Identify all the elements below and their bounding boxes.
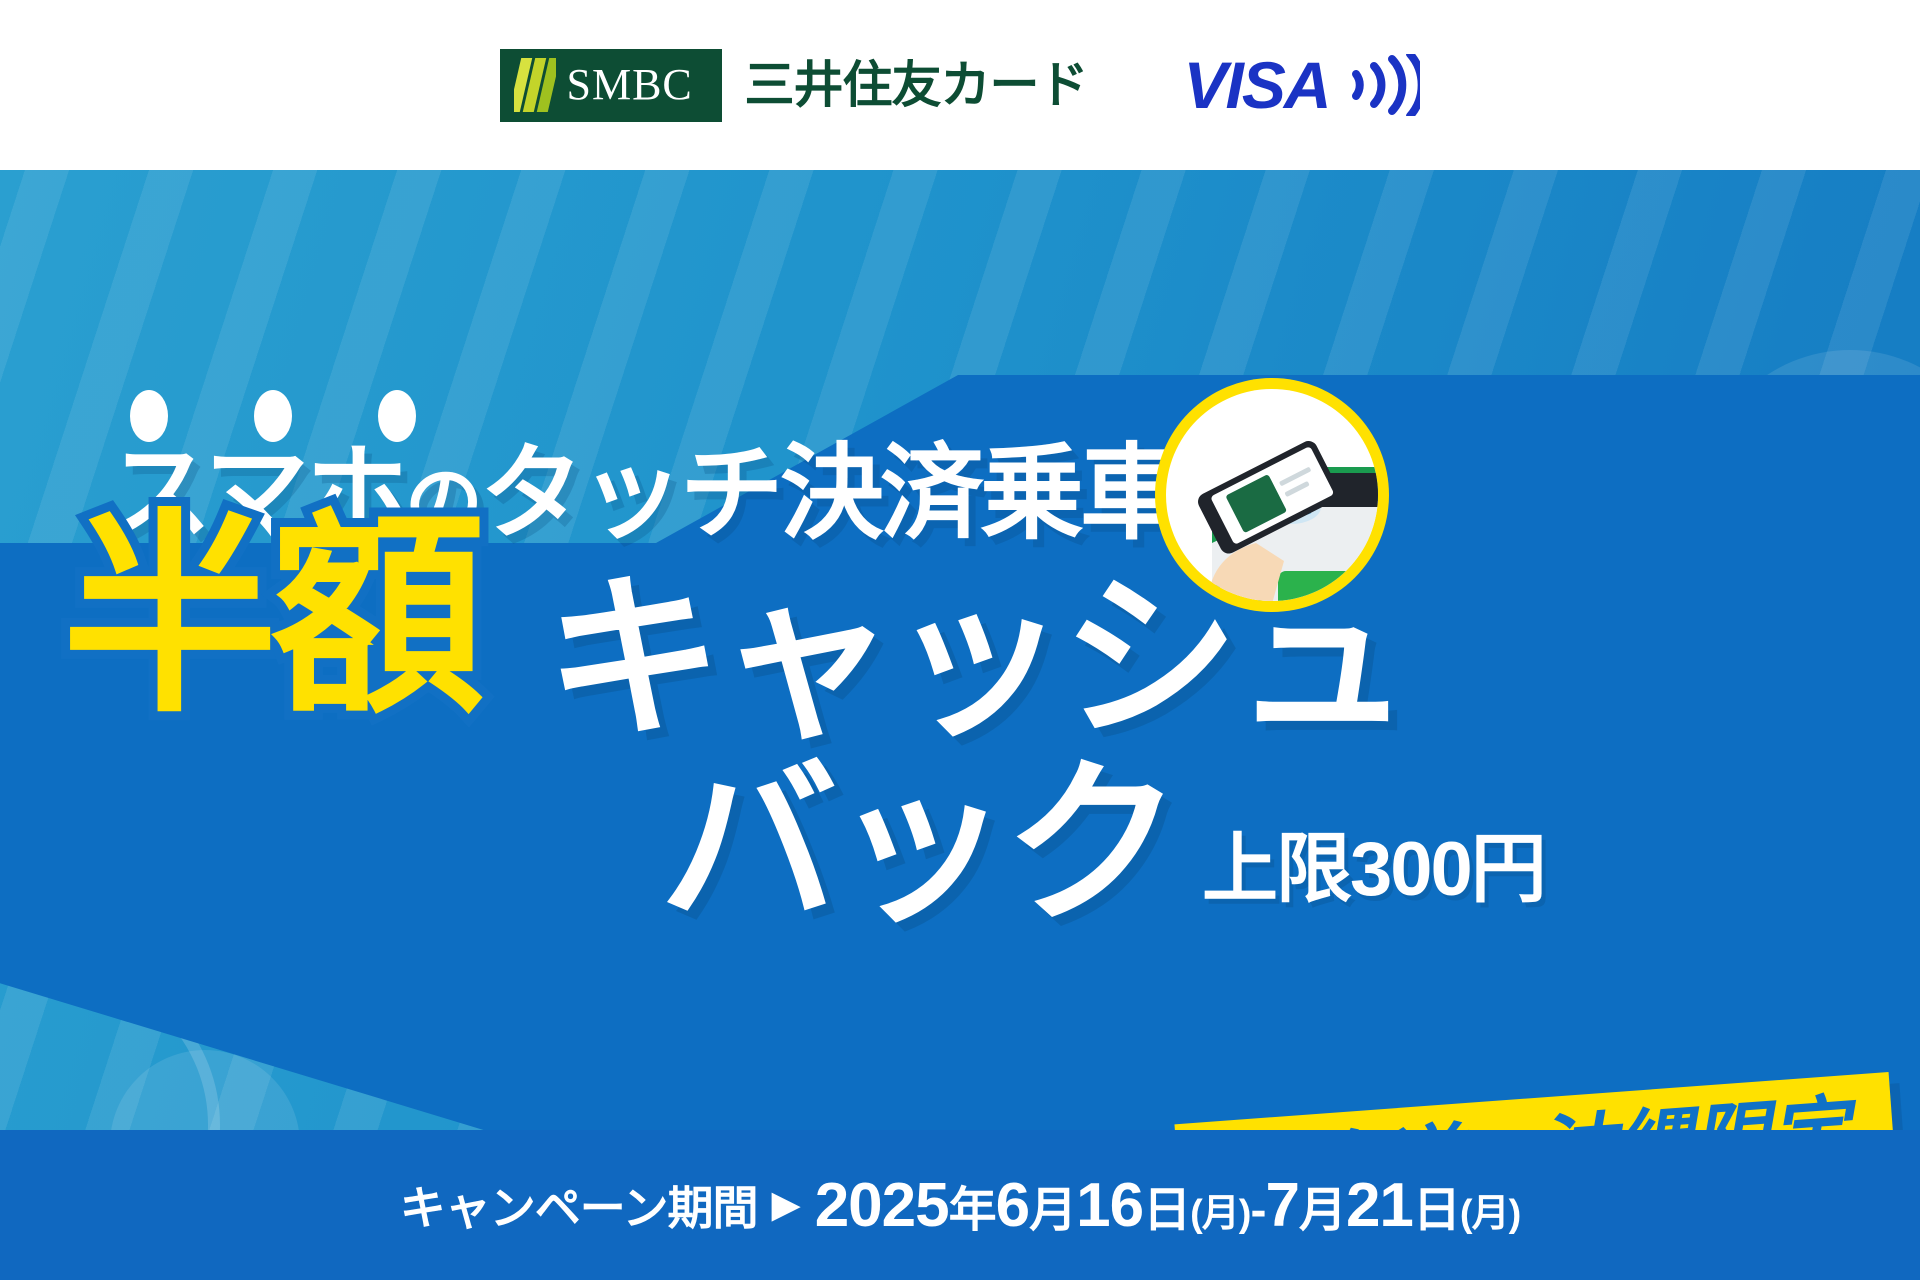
campaign-banner: SMBC 三井住友カード VISA	[0, 0, 1920, 1280]
date-start-month: 6	[996, 1171, 1029, 1240]
headline-touch-payment-ride: タッチ決済乗車	[480, 436, 1180, 552]
visa-wordmark: VISA	[1183, 52, 1329, 118]
emphasis-dots-icon	[130, 390, 416, 442]
date-end-weekday: (月)	[1460, 1193, 1520, 1235]
headline-back-row: バック 上限300円	[660, 756, 1545, 934]
smbc-wordmark: SMBC	[566, 63, 692, 107]
date-start-weekday: (月)	[1190, 1193, 1250, 1235]
brand-logo-bar: SMBC 三井住友カード VISA	[0, 0, 1920, 170]
date-month-unit: 月	[1299, 1184, 1346, 1237]
cashback-cap-note: 上限300円	[1202, 832, 1545, 934]
date-year: 2025	[815, 1171, 949, 1240]
smbc-stripes-icon	[514, 58, 556, 112]
smbc-logo-mark: SMBC	[500, 49, 722, 122]
smbc-brand-name-jp: 三井住友カード	[744, 60, 1087, 110]
headline-back: バック	[660, 756, 1176, 934]
play-triangle-icon: ▶	[771, 1186, 800, 1224]
date-separator: -	[1250, 1184, 1265, 1237]
smbc-logo: SMBC 三井住友カード	[500, 49, 1087, 122]
campaign-date-range: 2025年6月16日(月)-7月21日(月)	[815, 1170, 1521, 1241]
date-start-day: 16	[1076, 1171, 1143, 1240]
hero-section: スマホのタッチ決済乗車で 半額 キャッシュ バック 上限300円	[0, 170, 1920, 1130]
campaign-period-bar: キャンペーン期間 ▶ 2025年6月16日(月)-7月21日(月)	[0, 1130, 1920, 1280]
date-year-unit: 年	[949, 1184, 996, 1237]
contactless-waves-icon	[1348, 54, 1420, 116]
date-month-unit: 月	[1029, 1184, 1076, 1237]
smartphone-tap-ticket-gate-icon	[1152, 375, 1392, 615]
date-end-day: 21	[1346, 1171, 1413, 1240]
date-day-unit: 日	[1143, 1184, 1190, 1237]
period-label: キャンペーン期間	[400, 1172, 758, 1238]
date-day-unit: 日	[1413, 1184, 1460, 1237]
headline-half-price: 半額	[62, 508, 478, 724]
visa-logo: VISA	[1183, 52, 1419, 118]
date-end-month: 7	[1265, 1171, 1298, 1240]
